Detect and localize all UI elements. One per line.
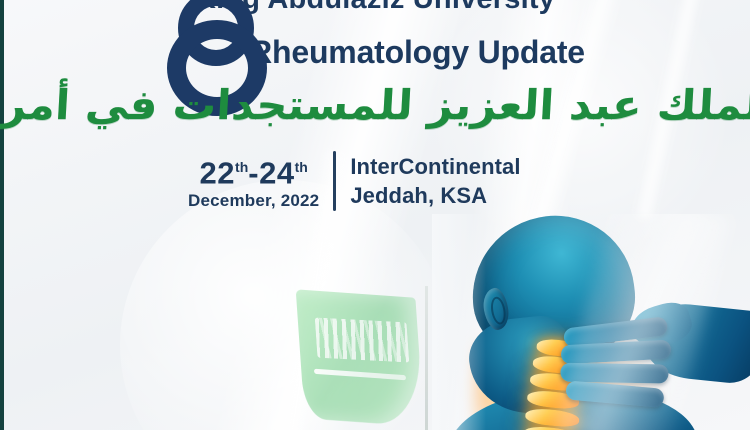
flag-pole — [425, 286, 428, 430]
figure-ear — [481, 286, 512, 332]
vertebra — [526, 389, 579, 410]
cervical-vertebrae — [523, 337, 590, 430]
figure-finger — [560, 363, 668, 384]
vertebra — [525, 407, 580, 429]
vertebra — [536, 338, 579, 358]
conference-poster: King Abdulaziz University Rheumatology U… — [0, 0, 750, 430]
figure-shoulder — [448, 390, 698, 430]
date-end: 24 — [259, 155, 294, 190]
figure-left-fade — [432, 214, 486, 430]
venue-name: InterContinental — [350, 152, 520, 181]
figure-hand — [553, 315, 693, 416]
date-start-ordinal: th — [235, 159, 248, 175]
figure-finger — [561, 340, 672, 365]
details-divider — [333, 151, 336, 211]
date-start: 22 — [200, 155, 235, 190]
arabic-conference-title: مؤتمر جامعة الملك عبد العزيز للمستجدات ف… — [0, 67, 750, 143]
vertebra — [529, 371, 580, 392]
arabic-calligraphy-band: مؤتمر جامعة الملك عبد العزيز للمستجدات ف… — [0, 64, 750, 146]
cervical-spine-pain-illustration — [432, 214, 750, 430]
figure-finger — [565, 380, 664, 407]
event-date-range: 22th-24th — [188, 150, 319, 190]
event-date-block: 22th-24th December, 2022 — [188, 150, 319, 212]
figure-jaw — [465, 313, 578, 419]
venue-city: Jeddah, KSA — [350, 181, 520, 210]
date-end-ordinal: th — [295, 159, 308, 175]
figure-arm — [640, 300, 750, 386]
background-light-blob-left — [120, 180, 450, 430]
figure-thumb — [627, 298, 696, 353]
neck-pain-glow — [472, 324, 662, 430]
figure-head — [464, 214, 643, 373]
flag-cloth — [296, 289, 425, 426]
figure-finger — [563, 316, 669, 348]
event-month-year: December, 2022 — [188, 190, 319, 212]
flag-sword — [314, 369, 406, 380]
event-venue-block: InterContinental Jeddah, KSA — [350, 152, 520, 210]
flag-shahada-script — [315, 317, 410, 362]
vertebra — [523, 425, 578, 430]
saudi-arabia-flag-icon — [300, 286, 432, 430]
vertebra — [532, 354, 579, 375]
event-details-row: 22th-24th December, 2022 InterContinenta… — [188, 150, 521, 212]
figure-highlight — [554, 214, 731, 430]
date-dash: - — [248, 155, 259, 190]
